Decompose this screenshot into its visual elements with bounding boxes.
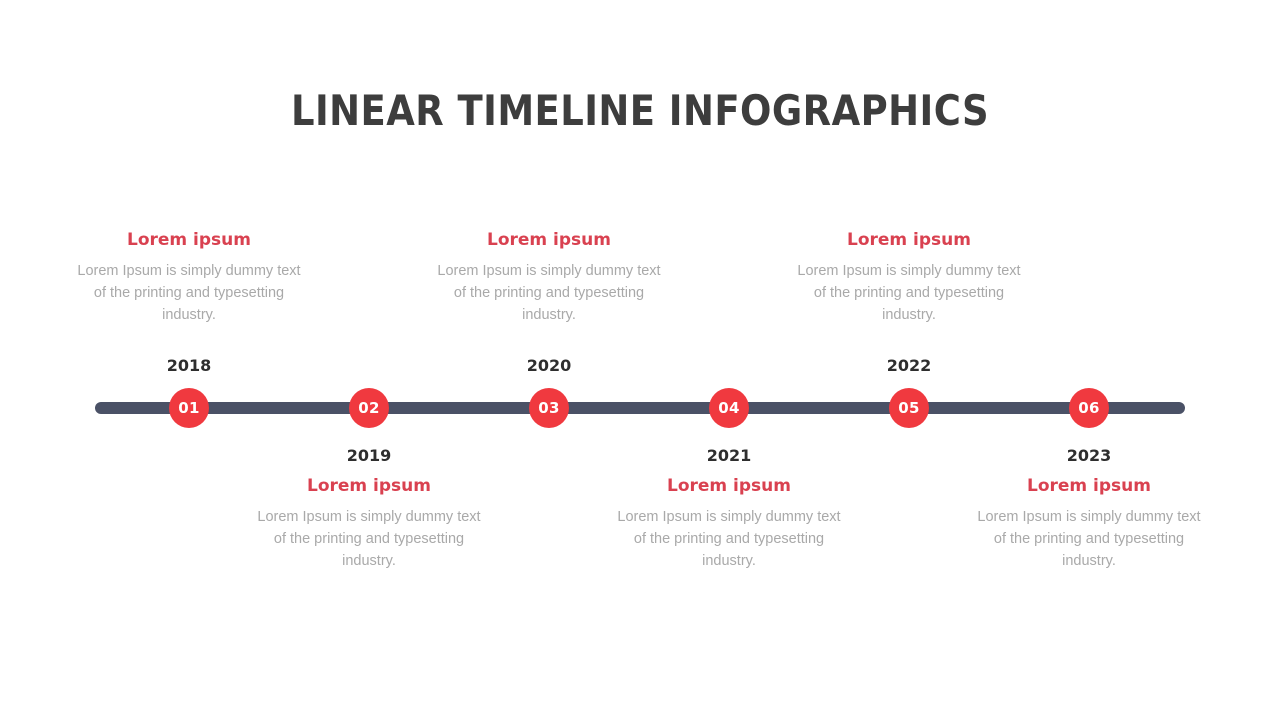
- timeline-marker-label: 06: [1078, 399, 1099, 417]
- timeline-marker-01[interactable]: 01: [169, 388, 209, 428]
- timeline-block-01: Lorem ipsumLorem Ipsum is simply dummy t…: [49, 230, 329, 326]
- timeline-year-2018: 2018: [109, 356, 269, 375]
- timeline-block-06: Lorem ipsumLorem Ipsum is simply dummy t…: [949, 476, 1229, 572]
- timeline-marker-02[interactable]: 02: [349, 388, 389, 428]
- timeline-block-body: Lorem Ipsum is simply dummy text of the …: [409, 260, 689, 326]
- timeline-marker-label: 01: [178, 399, 199, 417]
- timeline-year-2021: 2021: [649, 446, 809, 465]
- timeline-block-05: Lorem ipsumLorem Ipsum is simply dummy t…: [769, 230, 1049, 326]
- timeline-block-02: Lorem ipsumLorem Ipsum is simply dummy t…: [229, 476, 509, 572]
- timeline-year-2022: 2022: [829, 356, 989, 375]
- timeline-year-2020: 2020: [469, 356, 629, 375]
- timeline-year-2019: 2019: [289, 446, 449, 465]
- timeline-marker-04[interactable]: 04: [709, 388, 749, 428]
- timeline-marker-label: 05: [898, 399, 919, 417]
- timeline-block-body: Lorem Ipsum is simply dummy text of the …: [589, 506, 869, 572]
- timeline-year-2023: 2023: [1009, 446, 1169, 465]
- timeline-block-03: Lorem ipsumLorem Ipsum is simply dummy t…: [409, 230, 689, 326]
- timeline-block-title: Lorem ipsum: [409, 230, 689, 250]
- timeline-block-body: Lorem Ipsum is simply dummy text of the …: [49, 260, 329, 326]
- timeline-block-title: Lorem ipsum: [949, 476, 1229, 496]
- timeline-block-body: Lorem Ipsum is simply dummy text of the …: [229, 506, 509, 572]
- timeline-block-title: Lorem ipsum: [49, 230, 329, 250]
- timeline-block-body: Lorem Ipsum is simply dummy text of the …: [769, 260, 1049, 326]
- timeline-track: [95, 402, 1185, 414]
- timeline-block-title: Lorem ipsum: [589, 476, 869, 496]
- timeline-marker-05[interactable]: 05: [889, 388, 929, 428]
- timeline-marker-03[interactable]: 03: [529, 388, 569, 428]
- timeline-marker-label: 03: [538, 399, 559, 417]
- timeline-marker-label: 02: [358, 399, 379, 417]
- timeline-marker-label: 04: [718, 399, 739, 417]
- timeline-block-body: Lorem Ipsum is simply dummy text of the …: [949, 506, 1229, 572]
- timeline-block-title: Lorem ipsum: [769, 230, 1049, 250]
- timeline-block-04: Lorem ipsumLorem Ipsum is simply dummy t…: [589, 476, 869, 572]
- timeline-block-title: Lorem ipsum: [229, 476, 509, 496]
- timeline-marker-06[interactable]: 06: [1069, 388, 1109, 428]
- page-title: LINEAR TIMELINE INFOGRAPHICS: [77, 86, 1203, 135]
- slide-canvas: LINEAR TIMELINE INFOGRAPHICS 01020304050…: [0, 0, 1280, 720]
